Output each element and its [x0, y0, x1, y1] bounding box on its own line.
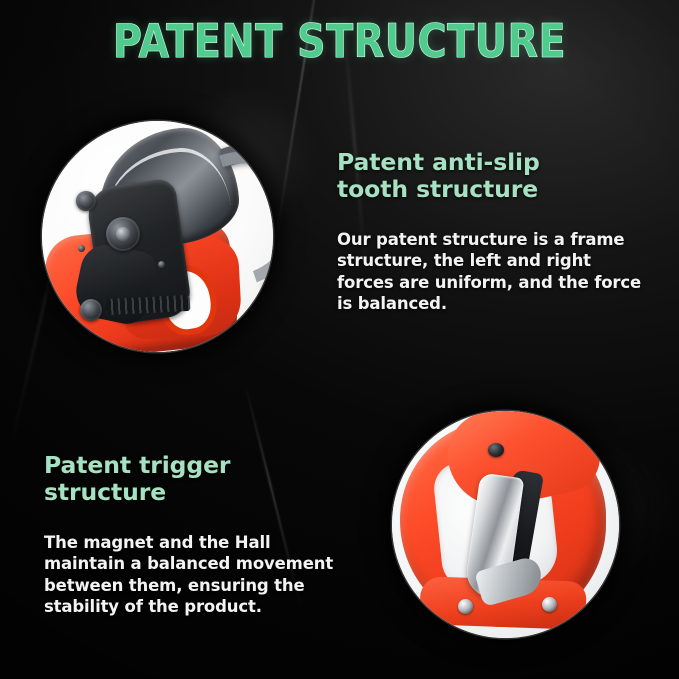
feature-heading-anti-slip: Patent anti-slip tooth structure	[337, 149, 657, 203]
handle-screw	[458, 599, 473, 614]
trigger-pivot-pin	[488, 443, 504, 457]
page-title: PATENT STRUCTURE	[14, 18, 666, 64]
product-photo-trigger	[392, 411, 619, 638]
shear-main-pivot-bolt	[106, 217, 140, 251]
feature-block-trigger: Patent trigger structure The magnet and …	[44, 452, 344, 618]
product-photo-blade-head	[42, 121, 273, 352]
feature-body-anti-slip: Our patent structure is a frame structur…	[337, 229, 657, 315]
shear-screw	[158, 261, 165, 268]
shear-secondary-pivot-bolt	[76, 191, 96, 211]
feature-block-anti-slip: Patent anti-slip tooth structure Our pat…	[337, 149, 657, 315]
handle-screw	[542, 597, 557, 612]
shear-lower-pivot-bolt	[80, 299, 102, 321]
shear-screw	[78, 245, 85, 252]
feature-body-trigger: The magnet and the Hall maintain a balan…	[44, 532, 344, 618]
feature-heading-trigger: Patent trigger structure	[44, 452, 344, 506]
infographic-poster: PATENT STRUCTURE Patent anti-slip tooth …	[0, 0, 679, 679]
